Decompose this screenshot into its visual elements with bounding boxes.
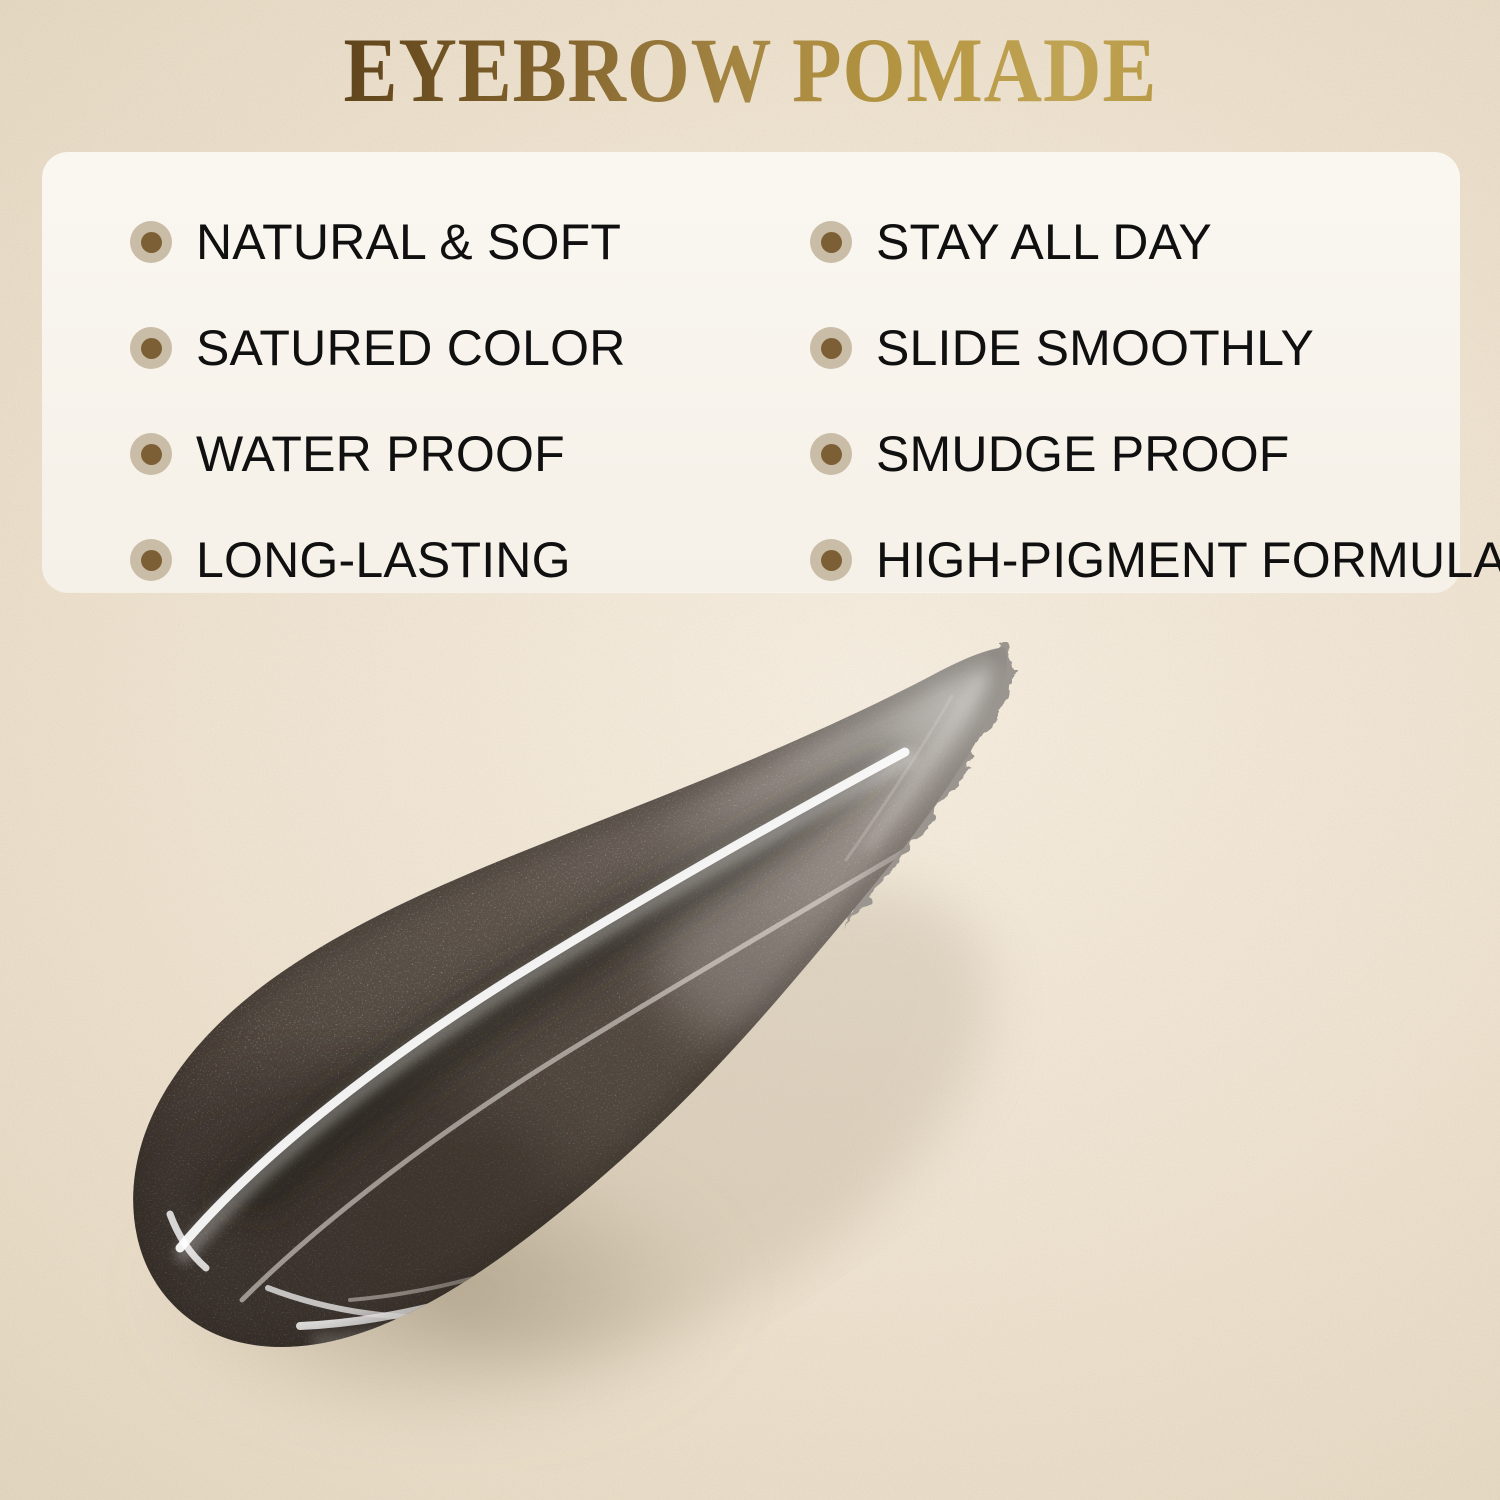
feature-item-satured-color: SATURED COLOR xyxy=(130,295,810,401)
feature-label: HIGH-PIGMENT FORMULA xyxy=(876,535,1500,585)
page-header: EYEBROW POMADE xyxy=(0,22,1500,119)
feature-item-high-pigment-formula: HIGH-PIGMENT FORMULA xyxy=(810,507,1500,613)
bullet-dot-icon xyxy=(810,221,852,263)
feature-label: LONG-LASTING xyxy=(196,535,571,585)
bullet-dot-icon xyxy=(130,221,172,263)
pomade-swatch-illustration xyxy=(0,600,1500,1500)
feature-item-slide-smoothly: SLIDE SMOOTHLY xyxy=(810,295,1500,401)
feature-label: NATURAL & SOFT xyxy=(196,217,621,267)
bullet-dot-icon xyxy=(810,539,852,581)
bullet-dot-icon xyxy=(130,327,172,369)
feature-label: SATURED COLOR xyxy=(196,323,626,373)
feature-item-stay-all-day: STAY ALL DAY xyxy=(810,189,1500,295)
feature-item-long-lasting: LONG-LASTING xyxy=(130,507,810,613)
bullet-dot-icon xyxy=(810,433,852,475)
feature-label: SLIDE SMOOTHLY xyxy=(876,323,1314,373)
feature-item-natural-soft: NATURAL & SOFT xyxy=(130,189,810,295)
bullet-dot-icon xyxy=(810,327,852,369)
feature-item-water-proof: WATER PROOF xyxy=(130,401,810,507)
product-swatch xyxy=(0,600,1500,1500)
feature-list: NATURAL & SOFT STAY ALL DAY SATURED COLO… xyxy=(42,152,1460,592)
feature-label: SMUDGE PROOF xyxy=(876,429,1290,479)
page-title: EYEBROW POMADE xyxy=(343,22,1157,119)
feature-label: WATER PROOF xyxy=(196,429,565,479)
bullet-dot-icon xyxy=(130,433,172,475)
feature-card: NATURAL & SOFT STAY ALL DAY SATURED COLO… xyxy=(42,152,1460,592)
product-feature-page: EYEBROW POMADE NATURAL & SOFT STAY ALL D… xyxy=(0,0,1500,1500)
feature-item-smudge-proof: SMUDGE PROOF xyxy=(810,401,1500,507)
feature-label: STAY ALL DAY xyxy=(876,217,1212,267)
bullet-dot-icon xyxy=(130,539,172,581)
